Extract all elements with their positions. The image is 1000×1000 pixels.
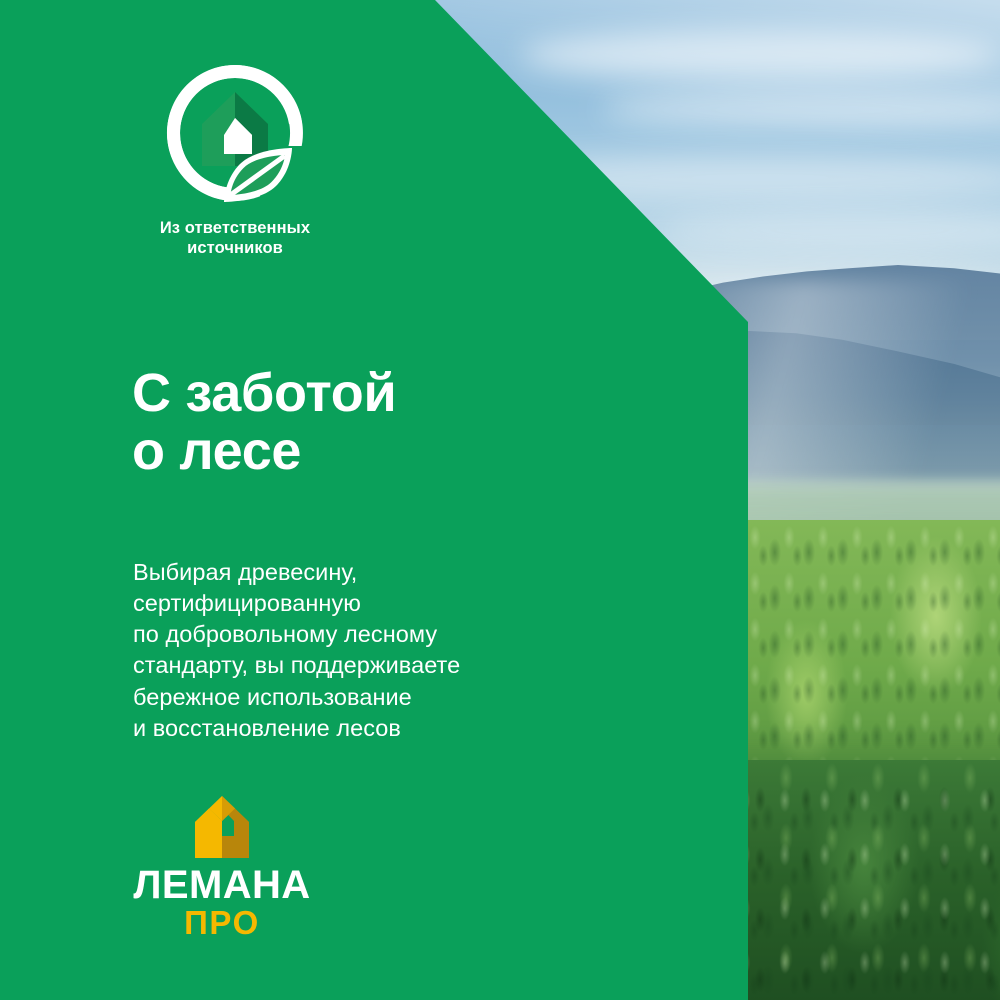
brand-name: ЛЕМАНА (132, 866, 312, 904)
body-paragraph: Выбирая древесину, сертифицированную по … (133, 557, 673, 745)
certification-badge: Из ответственных источников (128, 62, 342, 258)
promo-poster: Из ответственных источников С заботой о … (0, 0, 1000, 1000)
certification-caption: Из ответственных источников (128, 218, 342, 258)
page-title: С заботой о лесе (132, 365, 652, 481)
cloud-band (520, 30, 1000, 80)
responsible-sources-icon (164, 62, 306, 204)
brand-sub-label: ПРО (132, 906, 312, 939)
lemana-house-icon (189, 796, 255, 858)
brand-logo: ЛЕМАНА ПРО (132, 796, 312, 939)
